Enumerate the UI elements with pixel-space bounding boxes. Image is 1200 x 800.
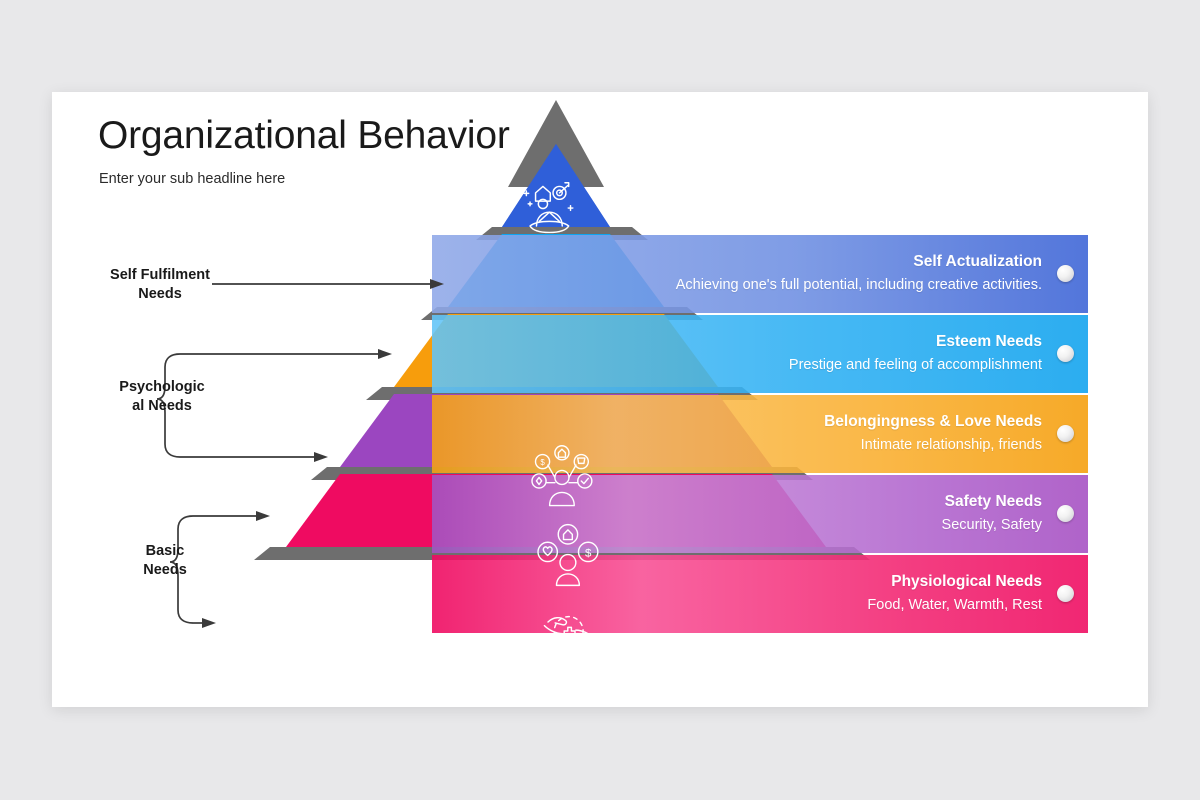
- band-bullet-belongingness[interactable]: [1057, 425, 1074, 442]
- band-bullet-esteem[interactable]: [1057, 345, 1074, 362]
- bracket-label-psychological: Psychologic al Needs: [107, 378, 217, 416]
- band-2: [432, 475, 1088, 553]
- arrow-head-basic-top: [256, 511, 270, 521]
- band-4: [432, 315, 1088, 393]
- band-3: [432, 395, 1088, 473]
- band-bullet-physiological[interactable]: [1057, 585, 1074, 602]
- human-body-health-icon: [544, 686, 597, 707]
- slide-canvas: Organizational Behavior Enter your sub h…: [52, 92, 1148, 707]
- bracket-label-basic: Basic Needs: [122, 542, 208, 580]
- svg-text:$: $: [585, 547, 592, 559]
- maslow-pyramid-diagram: $ $: [52, 92, 1148, 707]
- svg-text:$: $: [540, 458, 545, 467]
- arrow-head-basic-bottom: [202, 618, 216, 628]
- arrow-head-psych-top: [378, 349, 392, 359]
- band-bullet-safety[interactable]: [1057, 505, 1074, 522]
- bracket-label-self-fulfilment: Self Fulfilment Needs: [96, 266, 224, 304]
- band-bullet-self-actualization[interactable]: [1057, 265, 1074, 282]
- band-1: [432, 555, 1088, 633]
- arrow-head-psych-bottom: [314, 452, 328, 462]
